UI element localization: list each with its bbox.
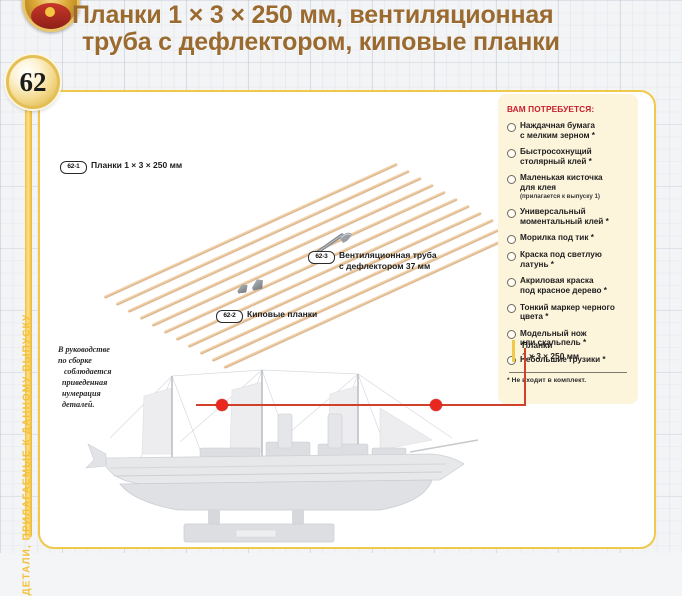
callout-leader-riser: [524, 348, 526, 406]
material-label-line-1: Краска под светлую латунь *: [520, 250, 629, 270]
part-callout-62-3: 62-3 Вентиляционная труба с дефлектором …: [308, 250, 437, 271]
page-number-badge: 62: [6, 55, 60, 109]
checkbox-icon[interactable]: [507, 278, 516, 287]
ship-part-annotation: Планки 1 × 3 × 250 мм: [512, 340, 618, 362]
planks-illustration: [60, 96, 460, 326]
callout-leader-line: [196, 404, 526, 406]
material-label-line-2: под красное дерево *: [520, 286, 607, 296]
material-label-line-2: для клея: [520, 183, 603, 193]
material-label-line-1: Наждачная бумага: [520, 121, 595, 131]
material-label-line-1: Модельный нож: [520, 329, 587, 339]
part-label-line-1: Киповые планки: [247, 309, 317, 319]
materials-divider: [509, 372, 627, 373]
page-title: Планки 1 × 3 × 250 мм, вентиляционная тр…: [72, 2, 652, 56]
checkbox-icon[interactable]: [507, 304, 516, 313]
ship-annotation-line-1: Планки: [522, 340, 618, 351]
page-title-line-2: труба с дефлектором, киповые планки: [72, 29, 652, 56]
part-tag: 62-2: [216, 310, 243, 323]
material-item[interactable]: Морилка под тик *: [507, 233, 629, 244]
callout-marker-dot: [430, 399, 442, 411]
material-label-line-1: Универсальный: [520, 207, 609, 217]
part-tag: 62-1: [60, 161, 87, 174]
checkbox-icon[interactable]: [507, 235, 516, 244]
plank-strip: [211, 226, 505, 362]
material-label-line-1: Тонкий маркер черного: [520, 303, 615, 313]
material-label-line-1: Морилка под тик *: [520, 233, 594, 243]
material-label-line-2: моментальный клей *: [520, 217, 609, 227]
callout-marker-dot: [216, 399, 228, 411]
part-callout-62-2: 62-2 Киповые планки: [216, 309, 317, 323]
content-card: 62-1 Планки 1 × 3 × 250 мм 62-3 Вентиляц…: [38, 90, 656, 549]
checkbox-icon[interactable]: [507, 149, 516, 158]
material-label-line-1: Маленькая кисточка: [520, 173, 603, 183]
material-item[interactable]: Тонкий маркер черного цвета *: [507, 303, 629, 323]
material-label-note: (прилагается к выпуску 1): [520, 193, 603, 201]
part-callout-62-1: 62-1 Планки 1 × 3 × 250 мм: [60, 160, 182, 174]
material-item[interactable]: Маленькая кисточка для клея (прилагается…: [507, 173, 629, 201]
note-line-1: В руководстве: [58, 344, 158, 355]
ship-annotation-line-2: 1 × 3 × 250 мм: [522, 351, 618, 362]
material-item[interactable]: Универсальный моментальный клей *: [507, 207, 629, 227]
material-label-line-2: цвета *: [520, 312, 615, 322]
page-title-line-1: Планки 1 × 3 × 250 мм, вентиляционная: [72, 1, 553, 29]
ship-model-photo: [80, 368, 500, 546]
material-item[interactable]: Акриловая краска под красное дерево *: [507, 276, 629, 296]
part-label-line-2: с дефлектором 37 мм: [339, 261, 437, 272]
material-label-line-1: Быстросохнущий: [520, 147, 592, 157]
part-tag: 62-3: [308, 251, 335, 264]
material-item[interactable]: Наждачная бумага с мелким зерном *: [507, 121, 629, 141]
ship-model-drawing: [80, 368, 500, 546]
part-label-line-1: Вентиляционная труба: [339, 250, 437, 260]
material-label-line-2: столярный клей *: [520, 157, 592, 167]
material-label-line-1: Акриловая краска: [520, 276, 607, 286]
material-item[interactable]: Быстросохнущий столярный клей *: [507, 147, 629, 167]
part-label-line-1: Планки 1 × 3 × 250 мм: [91, 160, 182, 170]
logo-dot-shape: [45, 7, 55, 17]
checkbox-icon[interactable]: [507, 123, 516, 132]
checkbox-icon[interactable]: [507, 209, 516, 218]
material-label-line-2: с мелким зерном *: [520, 131, 595, 141]
section-vertical-caption: ДЕТАЛИ, ПРИЛАГАЕМЫЕ К ДАННОМУ ВЫПУСКУ: [22, 126, 33, 596]
checkbox-icon[interactable]: [507, 330, 516, 339]
note-line-2: по сборке: [58, 355, 158, 366]
materials-panel-title: ВАМ ПОТРЕБУЕТСЯ:: [507, 104, 629, 114]
material-item[interactable]: Краска под светлую латунь *: [507, 250, 629, 270]
checkbox-icon[interactable]: [507, 252, 516, 261]
checkbox-icon[interactable]: [507, 175, 516, 184]
